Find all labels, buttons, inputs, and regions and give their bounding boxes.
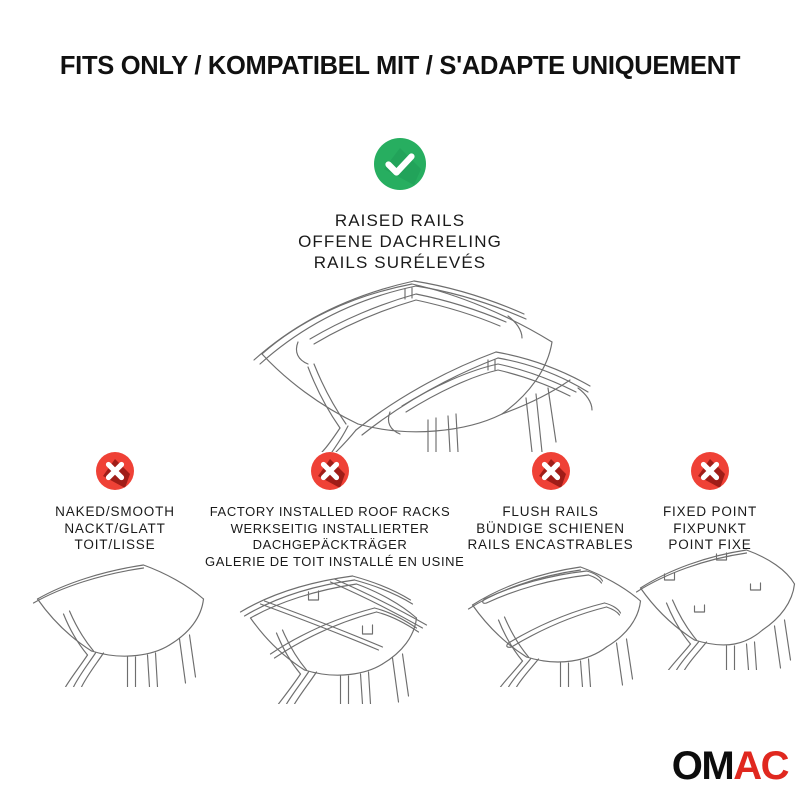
x-circle-icon	[691, 452, 729, 490]
smooth-roof-illustration	[8, 557, 223, 687]
label-en: FACTORY INSTALLED ROOF RACKS	[205, 504, 455, 521]
label-de: FIXPUNKT	[630, 521, 790, 538]
logo-text-red: AC	[733, 744, 788, 788]
incompatible-section: NAKED/SMOOTH NACKT/GLATT TOIT/LISSE	[0, 452, 800, 702]
label-de: NACKT/GLATT	[10, 521, 220, 538]
x-circle-icon	[532, 452, 570, 490]
page-title: FITS ONLY / KOMPATIBEL MIT / S'ADAPTE UN…	[0, 52, 800, 81]
label-fr: GALERIE DE TOIT INSTALLÉ EN USINE	[205, 554, 455, 571]
incompatible-item-flush-rails: FLUSH RAILS BÜNDIGE SCHIENEN RAILS ENCAS…	[448, 452, 653, 554]
raised-rails-illustration	[190, 272, 620, 452]
x-circle-icon	[311, 452, 349, 490]
label-fr: TOIT/LISSE	[10, 537, 220, 554]
compatible-labels: RAISED RAILS OFFENE DACHRELING RAILS SUR…	[0, 210, 800, 273]
fixed-point-roof-illustration	[623, 540, 798, 670]
fitment-compatibility-graphic: FITS ONLY / KOMPATIBEL MIT / S'ADAPTE UN…	[0, 0, 800, 800]
incompatible-labels: FACTORY INSTALLED ROOF RACKS WERKSEITIG …	[205, 504, 455, 570]
compatible-label-fr: RAILS SURÉLEVÉS	[0, 252, 800, 273]
incompatible-item-naked-smooth: NAKED/SMOOTH NACKT/GLATT TOIT/LISSE	[10, 452, 220, 554]
label-en: NAKED/SMOOTH	[10, 504, 220, 521]
label-de: WERKSEITIG INSTALLIERTER	[205, 521, 455, 538]
label-en: FLUSH RAILS	[448, 504, 653, 521]
label-de: BÜNDIGE SCHIENEN	[448, 521, 653, 538]
label-de-2: DACHGEPÄCKTRÄGER	[205, 537, 455, 554]
x-circle-icon	[96, 452, 134, 490]
compatible-label-en: RAISED RAILS	[0, 210, 800, 231]
factory-rack-roof-illustration	[223, 574, 438, 704]
incompatible-item-factory-roof-racks: FACTORY INSTALLED ROOF RACKS WERKSEITIG …	[205, 452, 455, 570]
compatible-label-de: OFFENE DACHRELING	[0, 231, 800, 252]
logo-text-dark: OM	[672, 744, 733, 788]
label-en: FIXED POINT	[630, 504, 790, 521]
incompatible-labels: NAKED/SMOOTH NACKT/GLATT TOIT/LISSE	[10, 504, 220, 554]
check-circle-icon	[374, 138, 426, 190]
compatible-section: RAISED RAILS OFFENE DACHRELING RAILS SUR…	[0, 138, 800, 273]
incompatible-item-fixed-point: FIXED POINT FIXPUNKT POINT FIXE	[630, 452, 790, 554]
omac-logo: OMAC	[672, 746, 788, 786]
